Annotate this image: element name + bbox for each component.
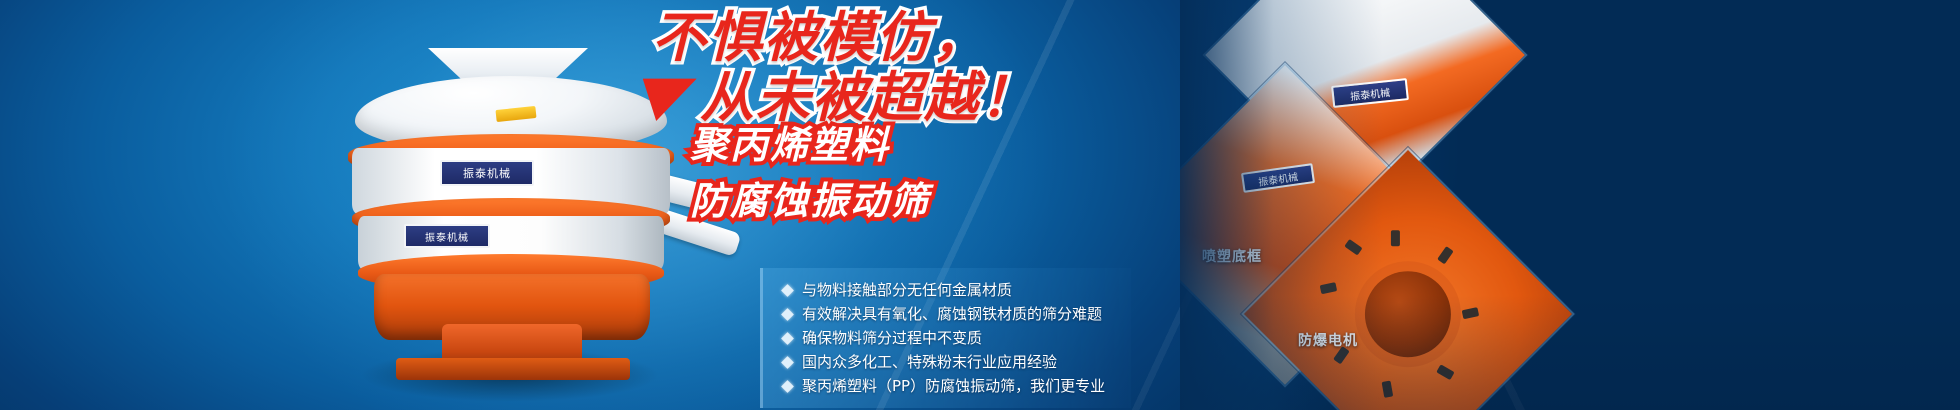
diamond-bullet-icon	[781, 308, 794, 321]
list-item: 与物料接触部分无任何金属材质	[783, 278, 1105, 302]
feature-bullet-panel: 与物料接触部分无任何金属材质 有效解决具有氧化、腐蚀钢铁材质的筛分难题 确保物料…	[760, 268, 1131, 408]
headline-line-2: 从未被超越！	[700, 68, 1036, 128]
diamond-bullet-icon	[781, 356, 794, 369]
diamond-bullet-icon	[781, 332, 794, 345]
bullet-text: 有效解决具有氧化、腐蚀钢铁材质的筛分难题	[802, 302, 1102, 326]
motor-bolt	[1391, 230, 1400, 246]
brand-plate-lower: 振泰机械	[404, 224, 490, 248]
headline-block: 不惧被模仿， 从未被超越！	[640, 8, 1160, 128]
bullet-text: 确保物料筛分过程中不变质	[802, 326, 982, 350]
red-triangle-arrow-icon	[637, 75, 697, 121]
promo-banner: 振泰机械 振泰机械 不惧被模仿， 从未被超越！ 聚丙烯塑料 防腐蚀振动筛 与物料…	[0, 0, 1960, 410]
motor-bolt	[1382, 380, 1394, 397]
headline-line-2-row: 从未被超越！	[640, 68, 1160, 128]
subtitle-block: 聚丙烯塑料 防腐蚀振动筛	[690, 122, 930, 234]
diamond-bullet-icon	[781, 380, 794, 393]
bullet-text: 与物料接触部分无任何金属材质	[802, 278, 1012, 302]
subtitle-line-2: 防腐蚀振动筛	[690, 178, 930, 224]
motor-bolt	[1437, 364, 1455, 380]
collage-label-2: 喷塑底框	[1202, 246, 1262, 266]
motor-bolt	[1320, 283, 1338, 295]
list-item: 聚丙烯塑料（PP）防腐蚀振动筛，我们更专业	[783, 374, 1105, 398]
bullet-text: 国内众多化工、特殊粉末行业应用经验	[802, 350, 1057, 374]
collage-label-3: 防爆电机	[1298, 330, 1358, 350]
subtitle-line-1: 聚丙烯塑料	[690, 122, 930, 168]
photo-collage: 振泰机械 喷塑束环 振泰机械 喷塑底框 防爆电机	[1180, 0, 1960, 410]
headline-line-1: 不惧被模仿，	[652, 8, 1160, 68]
list-item: 国内众多化工、特殊粉末行业应用经验	[783, 350, 1105, 374]
motor-hub	[1365, 271, 1451, 357]
brand-plate-upper: 振泰机械	[440, 160, 534, 186]
bullet-text: 聚丙烯塑料（PP）防腐蚀振动筛，我们更专业	[802, 374, 1105, 398]
list-item: 有效解决具有氧化、腐蚀钢铁材质的筛分难题	[783, 302, 1105, 326]
motor-bolt	[1345, 239, 1363, 256]
motor-bolt	[1462, 308, 1480, 320]
base-foot	[396, 358, 630, 380]
diamond-bullet-icon	[781, 284, 794, 297]
motor-bolt	[1438, 246, 1455, 264]
list-item: 确保物料筛分过程中不变质	[783, 326, 1105, 350]
